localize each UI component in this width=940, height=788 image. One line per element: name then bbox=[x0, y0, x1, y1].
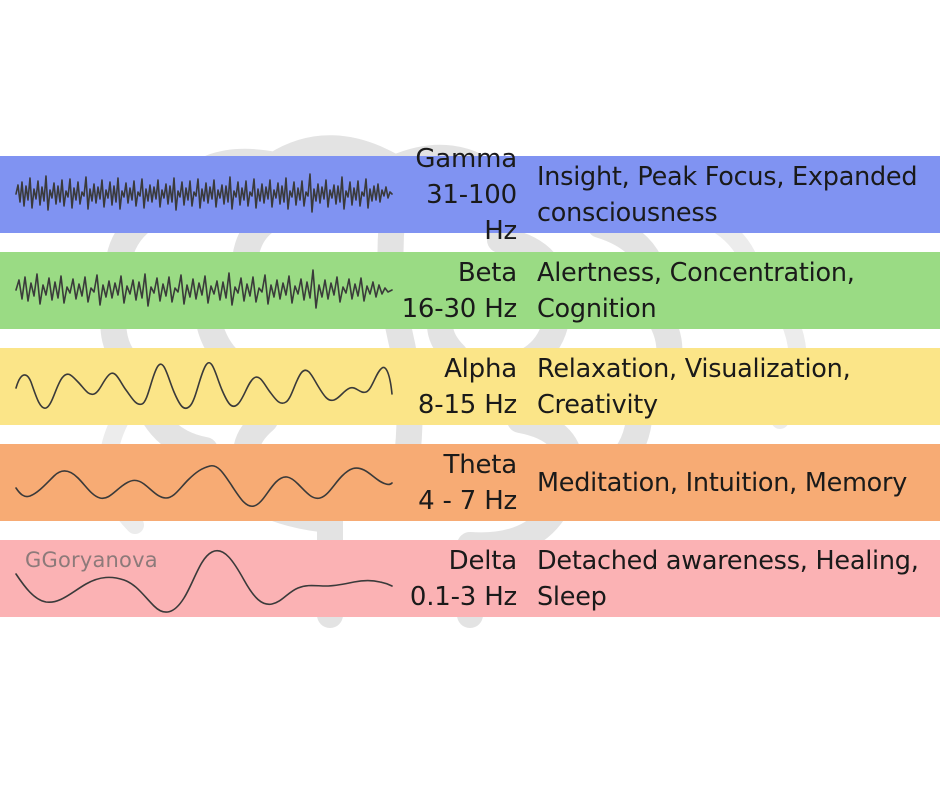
author-watermark: GGoryanova bbox=[25, 548, 158, 572]
waveform-gamma bbox=[0, 156, 400, 233]
band-name-gamma: Gamma bbox=[400, 141, 517, 177]
band-frequency-gamma: 31-100 Hz bbox=[400, 177, 517, 249]
band-description-theta: Meditation, Intuition, Memory bbox=[530, 465, 940, 501]
band-description-delta: Detached awareness, Healing, Sleep bbox=[530, 543, 940, 615]
band-name-cell-beta: Beta 16-30 Hz bbox=[400, 255, 530, 327]
band-name-cell-alpha: Alpha 8-15 Hz bbox=[400, 351, 530, 423]
band-description-beta: Alertness, Concentration, Cognition bbox=[530, 255, 940, 327]
band-row-gamma: Gamma 31-100 Hz Insight, Peak Focus, Exp… bbox=[0, 156, 940, 233]
band-row-delta: GGoryanova Delta 0.1-3 Hz Detached aware… bbox=[0, 540, 940, 617]
band-description-alpha: Relaxation, Visualization, Creativity bbox=[530, 351, 940, 423]
waveform-beta bbox=[0, 252, 400, 329]
band-name-alpha: Alpha bbox=[400, 351, 517, 387]
band-frequency-delta: 0.1-3 Hz bbox=[400, 579, 517, 615]
band-description-gamma: Insight, Peak Focus, Expanded consciousn… bbox=[530, 159, 940, 231]
band-frequency-beta: 16-30 Hz bbox=[400, 291, 517, 327]
band-row-theta: Theta 4 - 7 Hz Meditation, Intuition, Me… bbox=[0, 444, 940, 521]
waveform-alpha bbox=[0, 348, 400, 425]
waveform-theta bbox=[0, 444, 400, 521]
band-name-cell-theta: Theta 4 - 7 Hz bbox=[400, 447, 530, 519]
band-name-theta: Theta bbox=[400, 447, 517, 483]
band-name-delta: Delta bbox=[400, 543, 517, 579]
band-frequency-alpha: 8-15 Hz bbox=[400, 387, 517, 423]
band-row-alpha: Alpha 8-15 Hz Relaxation, Visualization,… bbox=[0, 348, 940, 425]
band-name-beta: Beta bbox=[400, 255, 517, 291]
brainwave-band-list: Gamma 31-100 Hz Insight, Peak Focus, Exp… bbox=[0, 156, 940, 636]
band-row-beta: Beta 16-30 Hz Alertness, Concentration, … bbox=[0, 252, 940, 329]
band-frequency-theta: 4 - 7 Hz bbox=[400, 483, 517, 519]
band-name-cell-gamma: Gamma 31-100 Hz bbox=[400, 141, 530, 249]
band-name-cell-delta: Delta 0.1-3 Hz bbox=[400, 543, 530, 615]
